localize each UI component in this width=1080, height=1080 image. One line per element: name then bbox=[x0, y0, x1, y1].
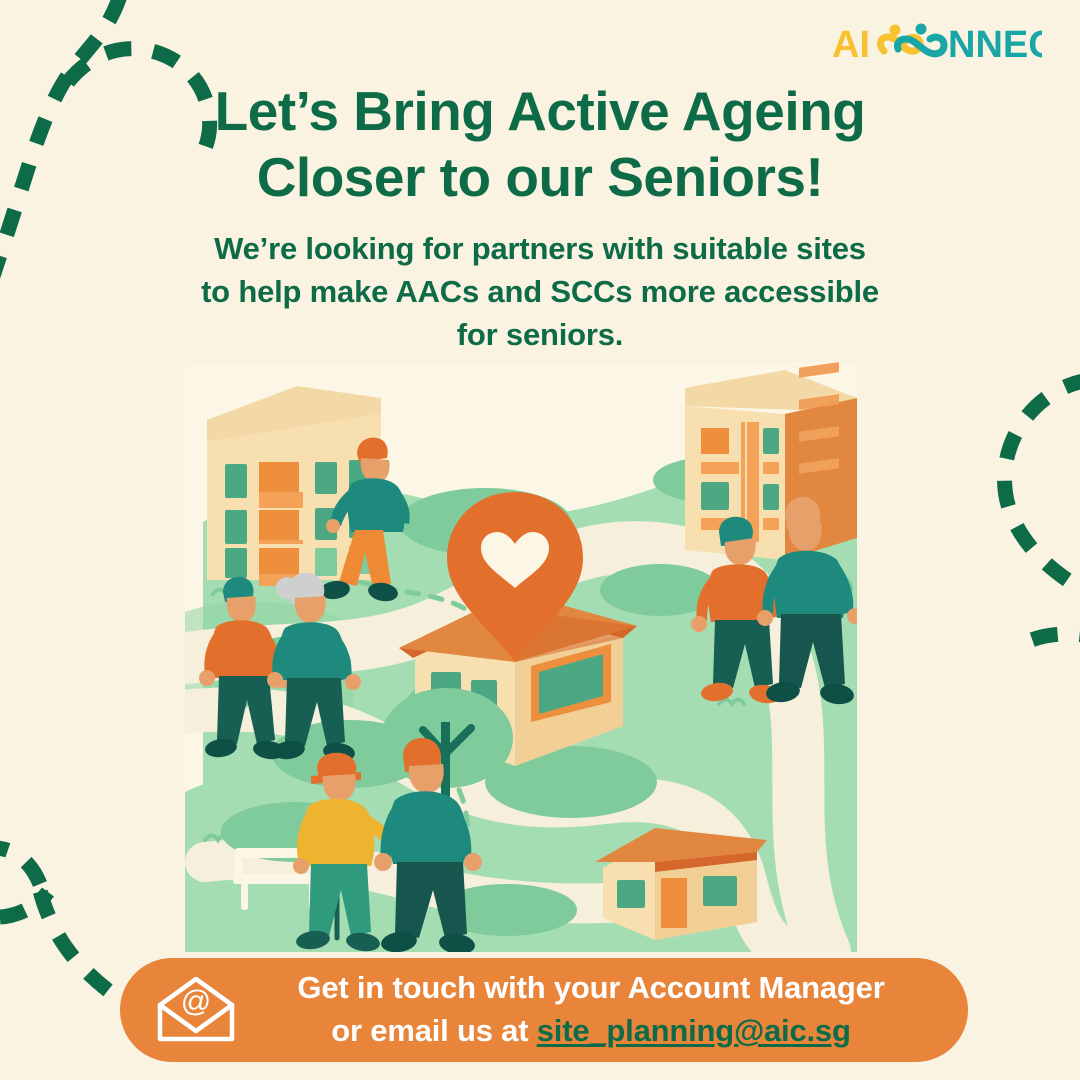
page-title: Let’s Bring Active Ageing Closer to our … bbox=[60, 78, 1020, 210]
contact-cta-bar[interactable]: @ Get in touch with your Account Manager… bbox=[120, 958, 968, 1062]
subtitle-line-3: for seniors. bbox=[110, 314, 970, 357]
neighbourhood-map-illustration bbox=[185, 362, 857, 952]
logo-svg: AI NNECT bbox=[832, 21, 1042, 67]
cta-line-2-prefix: or email us at bbox=[331, 1013, 536, 1048]
logo-ai-text: AI bbox=[832, 24, 870, 66]
infinity-people-icon bbox=[881, 24, 944, 54]
svg-text:@: @ bbox=[181, 985, 211, 1018]
logo-head-left bbox=[890, 25, 901, 36]
cta-text: Get in touch with your Account Manager o… bbox=[254, 967, 968, 1053]
envelope-at-icon: @ bbox=[154, 975, 238, 1045]
cta-line-2: or email us at site_planning@aic.sg bbox=[254, 1010, 928, 1053]
headline-line-2: Closer to our Seniors! bbox=[60, 144, 1020, 210]
subtitle: We’re looking for partners with suitable… bbox=[110, 228, 970, 356]
cta-line-1: Get in touch with your Account Manager bbox=[254, 967, 928, 1010]
apartment-block-right bbox=[685, 362, 857, 560]
headline-line-1: Let’s Bring Active Ageing bbox=[60, 78, 1020, 144]
subtitle-line-2: to help make AACs and SCCs more accessib… bbox=[110, 271, 970, 314]
illustration-svg bbox=[185, 362, 857, 952]
subtitle-line-1: We’re looking for partners with suitable… bbox=[110, 228, 970, 271]
poster-canvas: AI NNECT Let’s Bring Active Ageing Close… bbox=[0, 0, 1080, 1080]
logo-head-right bbox=[916, 24, 927, 35]
email-link[interactable]: site_planning@aic.sg bbox=[537, 1013, 851, 1048]
logo-nnect-text: NNECT bbox=[948, 24, 1042, 66]
aic-connect-logo: AI NNECT bbox=[832, 22, 1042, 66]
